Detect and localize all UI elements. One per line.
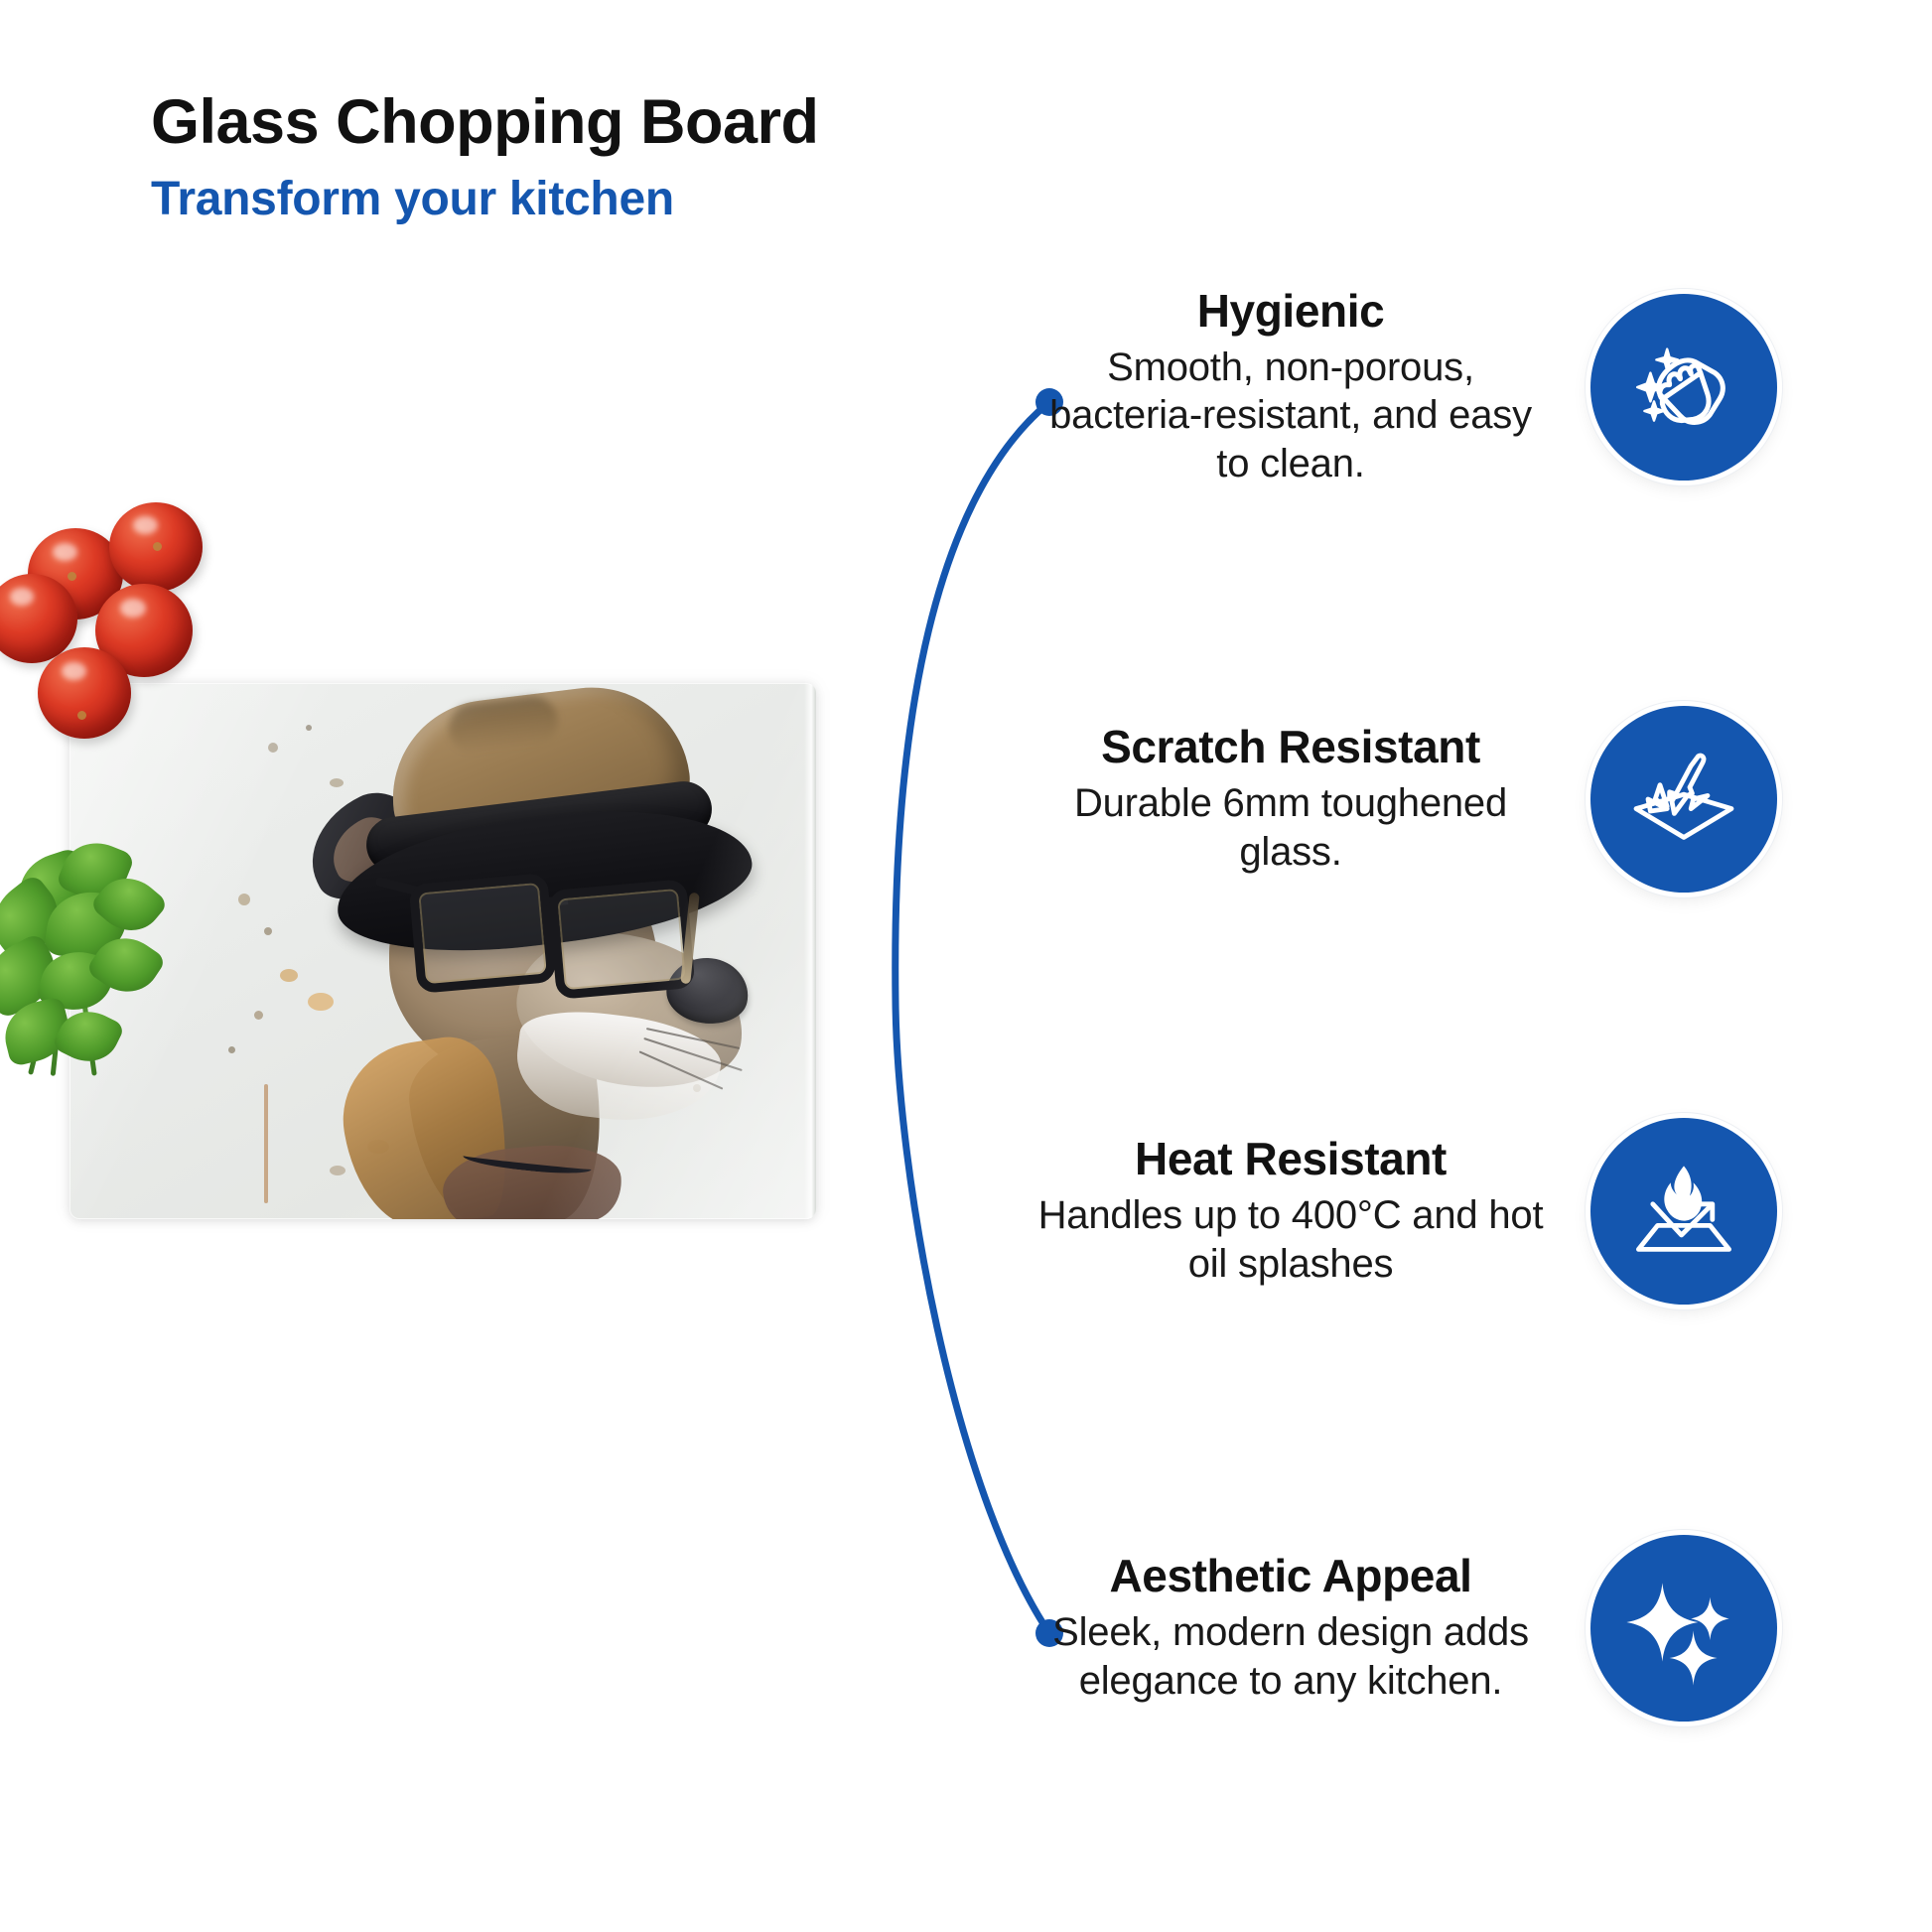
page-subtitle: Transform your kitchen bbox=[151, 172, 1144, 228]
feature-text-block: Scratch Resistant Durable 6mm toughened … bbox=[1033, 722, 1549, 876]
feature-row-aesthetic-appeal: Aesthetic Appeal Sleek, modern design ad… bbox=[1033, 1499, 1906, 1757]
feature-description: Handles up to 400°C and hot oil splashes bbox=[1033, 1191, 1549, 1289]
tomato-stem bbox=[77, 711, 86, 720]
feature-row-scratch-resistant: Scratch Resistant Durable 6mm toughened … bbox=[1033, 670, 1906, 928]
knife-impact-surface-icon bbox=[1590, 706, 1777, 893]
eyeglasses-lens-left bbox=[408, 873, 556, 994]
eyeglasses-lens-right bbox=[547, 879, 695, 1000]
header: Glass Chopping Board Transform your kitc… bbox=[151, 87, 1144, 227]
product-image-area bbox=[0, 596, 894, 1271]
feature-title: Scratch Resistant bbox=[1033, 722, 1549, 773]
dog-portrait bbox=[218, 688, 774, 1219]
feature-text-block: Heat Resistant Handles up to 400°C and h… bbox=[1033, 1134, 1549, 1288]
three-sparkles-icon bbox=[1590, 1535, 1777, 1722]
page-title: Glass Chopping Board bbox=[151, 87, 1144, 158]
feature-title: Hygienic bbox=[1033, 286, 1549, 338]
hand-wiping-sparkle-icon bbox=[1590, 294, 1777, 481]
feature-description: Durable 6mm toughened glass. bbox=[1033, 779, 1549, 877]
feature-description: Smooth, non-porous, bacteria-resistant, … bbox=[1033, 344, 1549, 488]
tomato-stem bbox=[153, 542, 162, 551]
parsley-bunch bbox=[0, 842, 193, 1080]
cherry-tomato bbox=[38, 647, 131, 739]
tomato-stem bbox=[68, 572, 76, 581]
feature-row-heat-resistant: Heat Resistant Handles up to 400°C and h… bbox=[1033, 1082, 1906, 1340]
flame-deflect-surface-icon bbox=[1590, 1118, 1777, 1305]
board-artwork bbox=[218, 688, 774, 1219]
feature-row-hygienic: Hygienic Smooth, non-porous, bacteria-re… bbox=[1033, 258, 1906, 516]
glass-edge-highlight bbox=[804, 683, 816, 1219]
feature-text-block: Aesthetic Appeal Sleek, modern design ad… bbox=[1033, 1551, 1549, 1705]
feature-title: Heat Resistant bbox=[1033, 1134, 1549, 1185]
feature-title: Aesthetic Appeal bbox=[1033, 1551, 1549, 1602]
feature-text-block: Hygienic Smooth, non-porous, bacteria-re… bbox=[1033, 286, 1549, 488]
feature-description: Sleek, modern design adds elegance to an… bbox=[1033, 1608, 1549, 1706]
